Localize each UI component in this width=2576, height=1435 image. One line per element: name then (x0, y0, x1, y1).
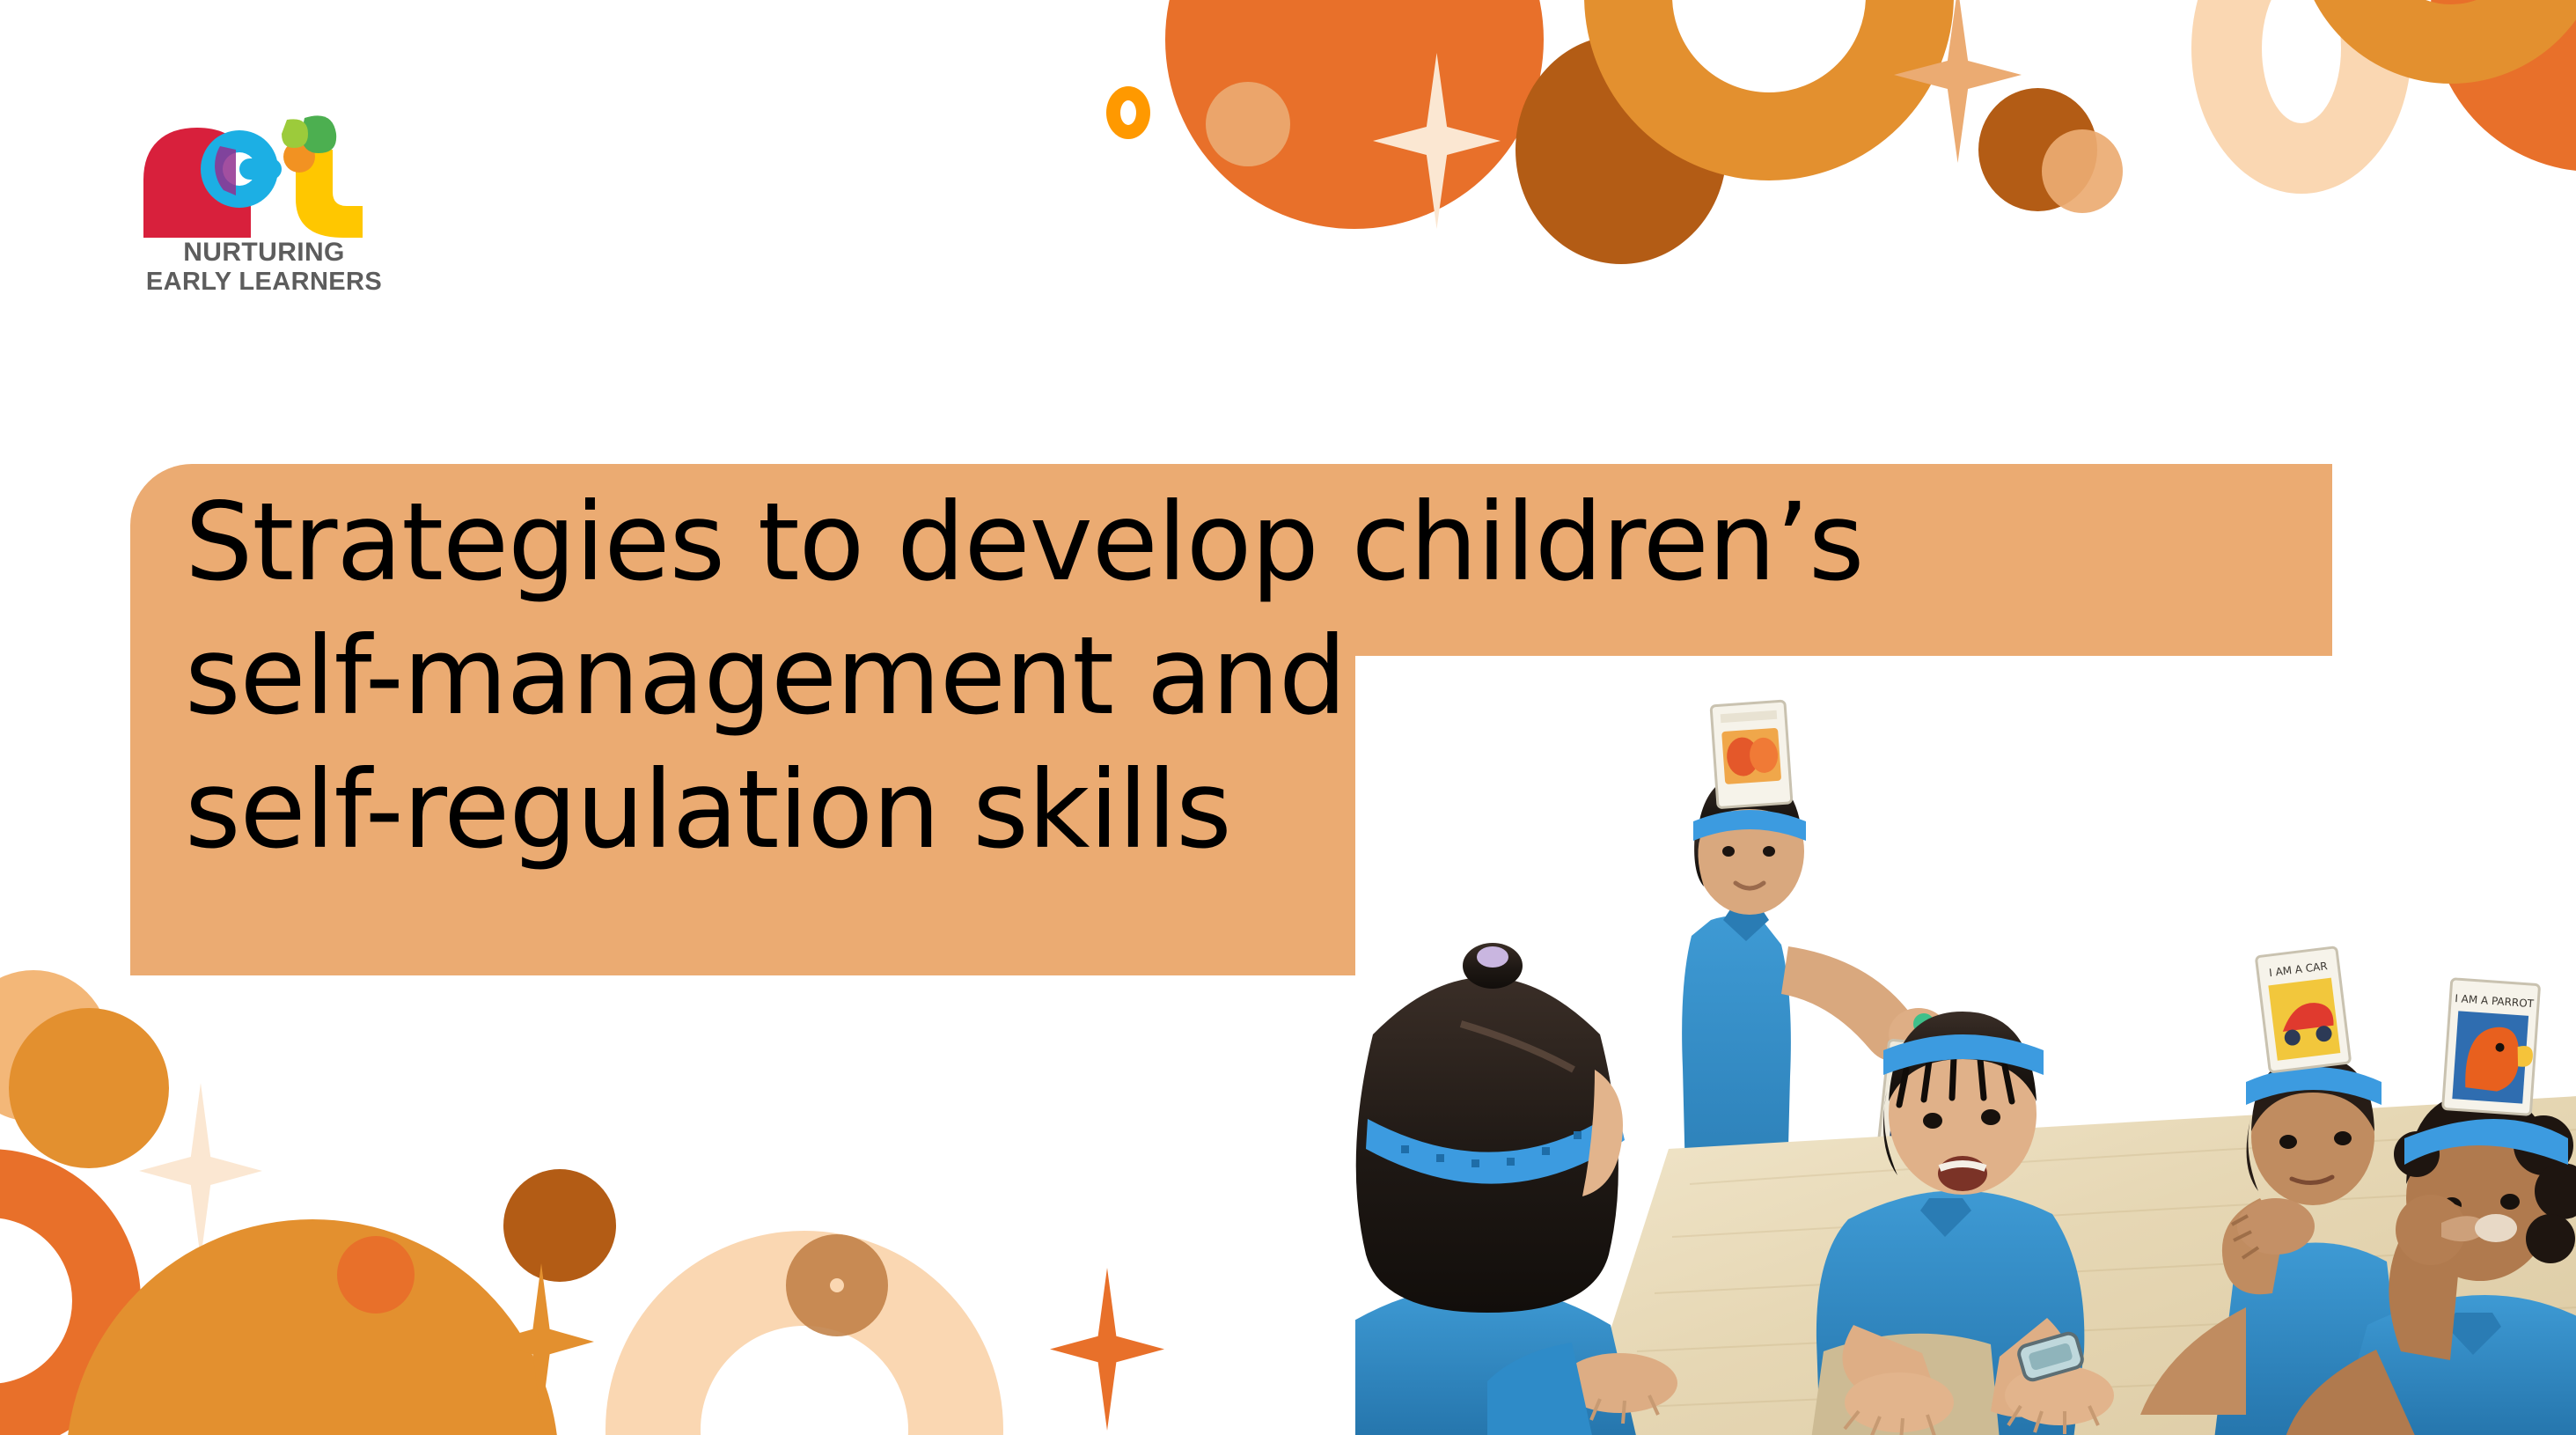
cream-sparkle-icon (1373, 53, 1501, 229)
orange-circle-dot-icon (337, 1236, 415, 1314)
nel-logo[interactable]: NURTURING EARLY LEARNERS (132, 114, 396, 286)
peach-circle-corner-icon (0, 970, 109, 1122)
peach-circle-small-icon (1206, 82, 1290, 166)
classroom-photo: I AM A FLOWER (1355, 656, 2576, 1435)
cream-sparkle-left-icon (139, 1083, 262, 1259)
logo-line-2: EARLY LEARNERS (132, 268, 396, 297)
logo-wordmark: NURTURING EARLY LEARNERS (132, 238, 396, 297)
brown-ring-arch-icon (786, 1234, 888, 1336)
peach-donut-icon (2191, 0, 2411, 194)
nel-logo-mark (132, 114, 396, 238)
logo-line-1: NURTURING (132, 238, 396, 268)
peach-circle-tiny-icon (2042, 129, 2123, 213)
orange-donut-topright-icon (2297, 0, 2576, 84)
classroom-photo-illustration: I AM A FLOWER (1355, 656, 2576, 1435)
peach-arch-icon (605, 1231, 1003, 1435)
brown-ellipse-icon (1516, 35, 1727, 264)
peach-sparkle-small-icon (1894, 0, 2022, 163)
orange-ring-small-icon (1106, 86, 1150, 139)
orange-donut-bottom-icon (0, 1149, 141, 1435)
slide-canvas: NURTURING EARLY LEARNERS Strategies to d… (0, 0, 2576, 1435)
orange-sparkle-bottom-icon (488, 1263, 594, 1420)
orange-sparkle-right-icon (1050, 1268, 1164, 1431)
orange-circle-edge-icon (2431, 0, 2576, 172)
